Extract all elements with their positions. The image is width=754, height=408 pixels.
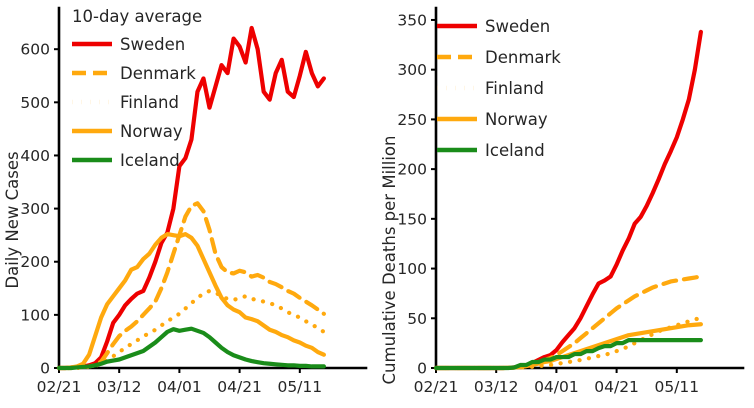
x-tick-label: 04/21 bbox=[217, 378, 262, 396]
legend-label-norway[interactable]: Norway bbox=[485, 110, 548, 129]
x-tick-label: 03/12 bbox=[474, 378, 519, 396]
y-tick-label: 200 bbox=[397, 161, 427, 179]
legend-label-denmark[interactable]: Denmark bbox=[120, 64, 196, 83]
legend-label-iceland[interactable]: Iceland bbox=[120, 151, 180, 170]
plot-daily-new-cases: 010020030040050060002/2103/1204/0104/210… bbox=[0, 0, 377, 408]
y-tick-label: 0 bbox=[40, 360, 50, 378]
series-line-denmark bbox=[59, 203, 324, 368]
y-tick-label: 300 bbox=[20, 200, 50, 218]
y-tick-label: 300 bbox=[397, 61, 427, 79]
y-tick-label: 50 bbox=[407, 310, 427, 328]
x-tick-label: 04/21 bbox=[594, 378, 639, 396]
y-tick-label: 600 bbox=[20, 41, 50, 59]
y-tick-label: 150 bbox=[397, 210, 427, 228]
y-tick-label: 350 bbox=[397, 11, 427, 29]
figure-covid-nordics: 010020030040050060002/2103/1204/0104/210… bbox=[0, 0, 754, 408]
legend-label-iceland[interactable]: Iceland bbox=[485, 141, 545, 160]
y-tick-label: 0 bbox=[417, 360, 427, 378]
plot-cumulative-deaths: 05010015020025030035002/2103/1204/0104/2… bbox=[377, 0, 754, 408]
y-tick-label: 200 bbox=[20, 253, 50, 271]
y-tick-label: 250 bbox=[397, 111, 427, 129]
legend-title: 10-day average bbox=[72, 7, 202, 26]
x-tick-label: 03/12 bbox=[97, 378, 142, 396]
legend-label-sweden[interactable]: Sweden bbox=[120, 35, 185, 54]
y-axis-title: Daily New Cases bbox=[3, 151, 22, 288]
x-tick-label: 04/01 bbox=[534, 378, 579, 396]
y-tick-label: 400 bbox=[20, 147, 50, 165]
y-axis-title: Cumulative Deaths per Million bbox=[380, 136, 399, 385]
x-tick-label: 02/21 bbox=[414, 378, 459, 396]
y-tick-label: 100 bbox=[20, 306, 50, 324]
x-tick-label: 05/11 bbox=[654, 378, 699, 396]
x-tick-label: 05/11 bbox=[277, 378, 322, 396]
legend-label-norway[interactable]: Norway bbox=[120, 122, 183, 141]
axis-spines bbox=[59, 8, 366, 368]
y-tick-label: 100 bbox=[397, 260, 427, 278]
series-line-finland bbox=[436, 318, 701, 368]
panel-cumulative-deaths: 05010015020025030035002/2103/1204/0104/2… bbox=[377, 0, 754, 408]
x-tick-label: 02/21 bbox=[37, 378, 82, 396]
legend-label-finland[interactable]: Finland bbox=[485, 79, 544, 98]
y-tick-label: 500 bbox=[20, 94, 50, 112]
x-tick-label: 04/01 bbox=[157, 378, 202, 396]
series-line-sweden bbox=[436, 32, 701, 368]
legend-label-finland[interactable]: Finland bbox=[120, 93, 179, 112]
legend-label-denmark[interactable]: Denmark bbox=[485, 48, 561, 67]
panel-daily-new-cases: 010020030040050060002/2103/1204/0104/210… bbox=[0, 0, 377, 408]
legend-label-sweden[interactable]: Sweden bbox=[485, 17, 550, 36]
